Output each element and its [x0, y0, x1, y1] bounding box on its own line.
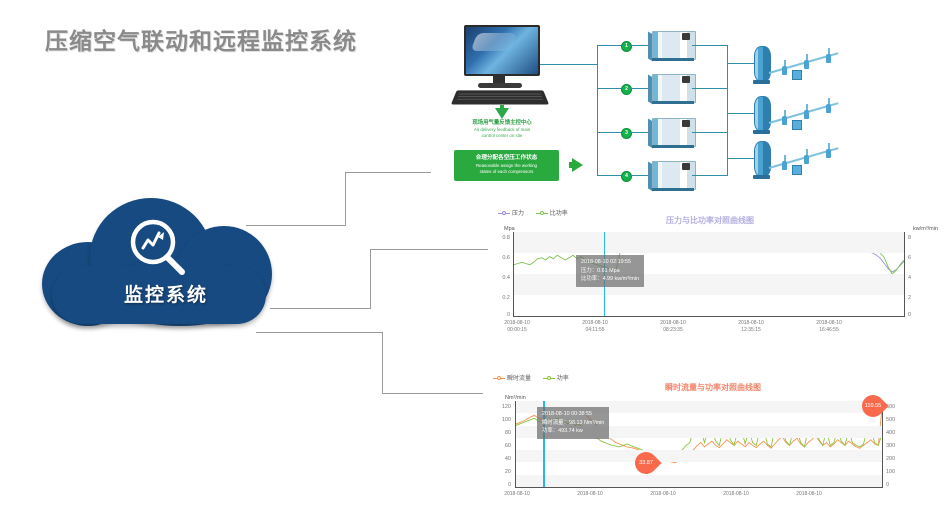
chart2-ytick: 0 [495, 482, 511, 488]
tooltip-line1: 压力：0.61 Mpa [581, 267, 639, 276]
pipe-bus-vertical [597, 45, 598, 175]
chart1-xtick: 2018-08-1008:23:35 [651, 320, 695, 333]
flow-power-chart[interactable]: 瞬时流量 功率 瞬时流量与功率对照曲线图 Nm³/min 120 100 80 … [483, 365, 943, 529]
chart2-x-axis [515, 487, 883, 488]
chart2-ytick-right: 0 [886, 482, 902, 488]
chart2-ytick-right: 300 [886, 443, 902, 449]
chart2-xtick: 2018-08-10 [641, 491, 685, 498]
chart2-xtick: 2018-08-10 [568, 491, 612, 498]
legend-label: 比功率 [550, 211, 568, 217]
chart2-ytick-right: 200 [886, 456, 902, 462]
chart2-ytick: 60 [495, 443, 511, 449]
legend-label: 瞬时流量 [507, 376, 531, 382]
pipe-outlet [727, 158, 755, 159]
tooltip-line2: 比功率：4.99 kw/m³/min [581, 275, 639, 284]
compressor-unit[interactable] [648, 159, 694, 191]
legend-item[interactable]: 功率 [543, 373, 569, 382]
chart1-y-axis-right [904, 232, 905, 316]
chart1-ytick: 0.6 [494, 255, 510, 261]
magnifier-chart-icon [122, 215, 194, 279]
legend-label: 压力 [512, 211, 524, 217]
pipe-segment [540, 64, 598, 65]
pipe-branch [692, 45, 728, 46]
chart1-xtick: 2018-08-1004:11:55 [573, 320, 617, 333]
node-indicator-3[interactable]: 3 [621, 128, 632, 139]
diagram-caption-cn: 现场用气量反馈主控中心 [452, 120, 552, 127]
chart1-plot-area[interactable] [514, 232, 904, 316]
green-status-box: 合理分配各空压工作状态 Reasonable assign the workin… [454, 150, 559, 181]
legend-marker [493, 375, 505, 381]
marker-label: 33.87 [635, 452, 657, 474]
chart2-xtick: 2018-08-10 [495, 491, 539, 498]
tooltip-timestamp: 2018-08-10 00:38:55 [542, 410, 604, 419]
chart2-xtick: 2018-08-10 [787, 491, 831, 498]
chart2-tooltip: 2018-08-10 00:38:55 瞬时流量：98.13 Nm³/min 功… [537, 407, 609, 439]
pipe-branch [630, 175, 650, 176]
chart2-ytick: 100 [495, 417, 511, 423]
legend-item[interactable]: 比功率 [536, 208, 568, 217]
pipe-outlet [727, 63, 755, 64]
chart1-xtick: 2018-08-1012:35:15 [729, 320, 773, 333]
chart2-ytick: 120 [495, 404, 511, 410]
legend-marker [543, 375, 555, 381]
connector-line-top-riser [345, 172, 346, 226]
green-box-en: Reasonable assign the working states of … [454, 163, 559, 174]
legend-item[interactable]: 瞬时流量 [493, 373, 531, 382]
pipe-branch [630, 45, 650, 46]
connector-line-bottom-riser [382, 332, 383, 393]
green-up-arrow-icon [495, 108, 509, 119]
chart1-ytick-right: 2 [908, 295, 924, 301]
chart1-ytick: 0.4 [494, 275, 510, 281]
chart2-ytick-right: 100 [886, 469, 902, 475]
chart-band [516, 475, 882, 487]
chart1-xtick: 2018-08-1000:00:15 [495, 320, 539, 333]
chart1-ytick-right: 4 [908, 275, 924, 281]
connector-line-top-c [345, 172, 431, 173]
connector-line-bottom [256, 332, 382, 333]
pipe-collector-vertical [727, 45, 728, 176]
pipe-branch [630, 88, 650, 89]
chart1-ytick-right: 8 [908, 235, 924, 241]
compressor-unit[interactable] [648, 29, 694, 61]
legend-item[interactable]: 压力 [498, 208, 524, 217]
compressor-unit[interactable] [648, 72, 694, 104]
chart2-ytick: 80 [495, 430, 511, 436]
connector-line-mid-b [370, 249, 488, 250]
connector-line-mid-riser [370, 249, 371, 309]
chart1-ytick: 0.2 [494, 295, 510, 301]
chart1-ytick: 0 [494, 312, 510, 318]
chart1-tooltip: 2018-08-10 02:19:55 压力：0.61 Mpa 比功率：4.99… [576, 255, 644, 287]
page-title: 压缩空气联动和远程监控系统 [45, 22, 357, 56]
pipe-branch [692, 175, 728, 176]
chart2-legend[interactable]: 瞬时流量 功率 [493, 373, 579, 382]
legend-label: 功率 [557, 376, 569, 382]
chart-band [514, 274, 904, 295]
chart1-x-axis [513, 316, 905, 317]
chart2-ytick: 20 [495, 469, 511, 475]
tooltip-line1: 瞬时流量：98.13 Nm³/min [542, 419, 604, 428]
node-indicator-1[interactable]: 1 [621, 41, 632, 52]
chart2-xtick: 2018-08-10 [714, 491, 758, 498]
green-box-cn: 合理分配各空压工作状态 [454, 154, 559, 162]
chart-band [516, 450, 882, 462]
compressor-unit[interactable] [648, 116, 694, 148]
tooltip-line2: 功率：493.74 kw [542, 427, 604, 436]
chart1-ytick-right: 6 [908, 255, 924, 261]
pipe-branch [630, 132, 650, 133]
pressure-power-chart[interactable]: 压力 比功率 压力与比功率对照曲线图 Mpa kw/m³/min 0.8 0.6… [490, 200, 940, 335]
chart2-ytick: 40 [495, 456, 511, 462]
diagram-caption-en: Air delivery feedback of main control ce… [446, 127, 558, 138]
green-right-arrow-icon [572, 158, 583, 172]
connector-line-bottom-b [382, 393, 484, 394]
chart2-ytick-right: 400 [886, 430, 902, 436]
chart1-xtick: 2018-08-1016:46:55 [807, 320, 851, 333]
chart2-ytick-right: 500 [886, 417, 902, 423]
marker-label: 110.55 [862, 395, 884, 417]
tooltip-timestamp: 2018-08-10 02:19:55 [581, 258, 639, 267]
legend-marker [498, 210, 510, 216]
chart2-marker-pin[interactable]: 33.87 [630, 447, 661, 478]
chart1-title: 压力与比功率对照曲线图 [570, 215, 850, 226]
pipe-outlet [727, 113, 755, 114]
node-indicator-4[interactable]: 4 [621, 171, 632, 182]
chart1-ylabel-right: kw/m³/min [913, 226, 938, 232]
chart1-ytick-right: 0 [908, 312, 924, 318]
pipe-branch [692, 88, 728, 89]
chart1-legend[interactable]: 压力 比功率 [498, 208, 578, 217]
pipe-branch [692, 132, 728, 133]
cloud-label: 监控系统 [42, 280, 290, 307]
chart2-title: 瞬时流量与功率对照曲线图 [573, 382, 853, 393]
network-diagram: 现场用气量反馈主控中心 Air delivery feedback of mai… [432, 20, 937, 195]
chart-band [514, 232, 904, 253]
node-indicator-2[interactable]: 2 [621, 84, 632, 95]
legend-marker [536, 210, 548, 216]
chart1-ytick: 0.8 [494, 235, 510, 241]
